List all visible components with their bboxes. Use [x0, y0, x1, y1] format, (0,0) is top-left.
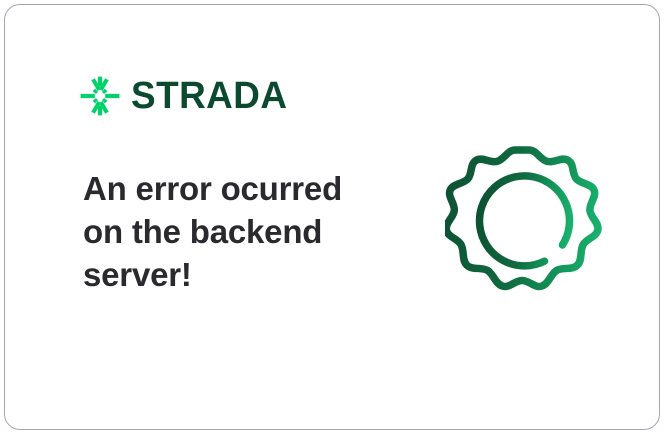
- strada-asterisk-mark-icon: [79, 75, 121, 117]
- error-message: An error ocurred on the backend server!: [83, 167, 383, 296]
- screen: STRADA An error ocurred on the backend s…: [0, 0, 666, 436]
- strada-logo: STRADA: [79, 75, 292, 117]
- gear-cog-icon: [445, 142, 613, 310]
- error-card: STRADA An error ocurred on the backend s…: [4, 4, 660, 430]
- strada-wordmark: STRADA: [131, 77, 287, 115]
